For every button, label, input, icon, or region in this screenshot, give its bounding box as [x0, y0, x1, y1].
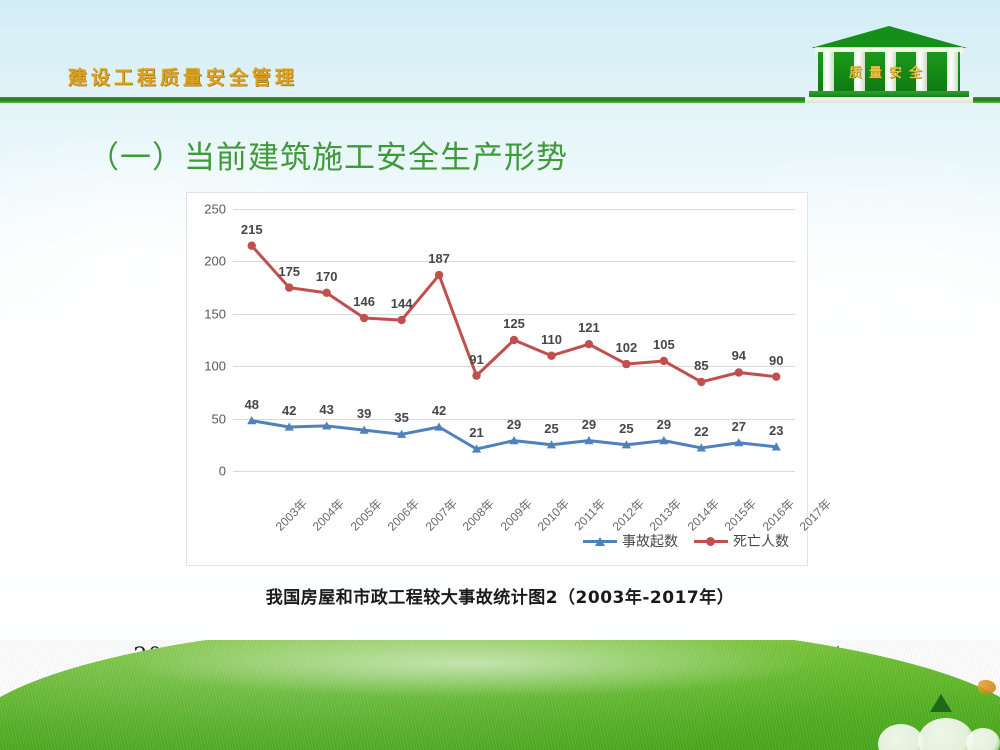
temple-roof	[811, 26, 967, 48]
temple-base	[805, 97, 973, 103]
chart-data-label: 91	[469, 352, 483, 367]
legend-label: 死亡人数	[733, 531, 789, 551]
chart-x-tick-label: 2015年	[721, 495, 760, 534]
chart-data-label: 29	[507, 417, 521, 432]
chart-marker	[772, 372, 780, 380]
chart-data-label: 125	[503, 316, 525, 331]
chart-data-label: 146	[353, 294, 375, 309]
legend-marker-icon	[694, 535, 728, 547]
chart-data-label: 90	[769, 353, 783, 368]
chart-data-label: 27	[732, 419, 746, 434]
chart-x-tick-label: 2011年	[571, 495, 610, 534]
chart-marker	[472, 371, 480, 379]
chart-data-label: 43	[319, 402, 333, 417]
chart-data-label: 39	[357, 406, 371, 421]
chart-data-label: 110	[541, 332, 562, 347]
chart-x-tick-label: 2013年	[646, 495, 685, 534]
chart-data-label: 42	[282, 403, 296, 418]
legend-item-死亡人数[interactable]: 死亡人数	[694, 531, 789, 551]
legend-item-事故起数[interactable]: 事故起数	[583, 531, 678, 551]
chart-marker	[360, 314, 368, 322]
chart-panel: 0501001502002504842433935422129252925292…	[186, 192, 808, 566]
chart-x-tick-label: 2004年	[309, 495, 348, 534]
chart-data-label: 29	[657, 417, 671, 432]
chart-data-label: 22	[694, 424, 708, 439]
chart-marker	[585, 340, 593, 348]
chart-series-layer	[233, 209, 795, 471]
chart-data-label: 144	[391, 296, 413, 311]
chart-x-tick-label: 2009年	[496, 495, 535, 534]
chart-marker	[248, 241, 256, 249]
chart-gridline: 0	[233, 471, 795, 472]
chart-x-tick-label: 2017年	[796, 495, 835, 534]
chart-data-label: 25	[619, 421, 633, 436]
logo-label: 质量安全	[818, 62, 960, 81]
chart-y-tick-label: 200	[204, 254, 226, 269]
chart-y-tick-label: 150	[204, 306, 226, 321]
chart-data-label: 42	[432, 403, 446, 418]
section-heading: （一）当前建筑施工安全生产形势	[88, 132, 568, 177]
grass-footer	[0, 640, 1000, 750]
chart-data-label: 29	[582, 417, 596, 432]
chart-data-label: 48	[244, 397, 258, 412]
chart-y-tick-label: 0	[219, 464, 226, 479]
chart-x-tick-label: 2010年	[533, 495, 572, 534]
chart-data-label: 94	[732, 348, 746, 363]
temple-icon: 质量安全	[805, 26, 973, 104]
chart-marker	[622, 360, 630, 368]
chart-data-label: 21	[469, 425, 483, 440]
chart-y-tick-label: 250	[204, 202, 226, 217]
slide-canvas: 建设工程质量安全管理 质量安全 （一）当前建筑施工安全生产形势 05010015…	[0, 0, 1000, 750]
legend-marker-icon	[583, 535, 617, 547]
chart-plot-area: 0501001502002504842433935422129252925292…	[233, 209, 795, 471]
chart-marker	[697, 378, 705, 386]
chart-data-label: 105	[653, 337, 675, 352]
chart-data-label: 85	[694, 358, 708, 373]
chart-data-label: 102	[616, 340, 638, 355]
chart-x-tick-label: 2016年	[758, 495, 797, 534]
chart-data-label: 187	[428, 251, 450, 266]
chart-x-tick-label: 2014年	[683, 495, 722, 534]
chart-data-label: 215	[241, 222, 263, 237]
decor-sprig-icon	[978, 680, 996, 694]
chart-x-tick-label: 2003年	[271, 495, 310, 534]
chart-y-tick-label: 50	[212, 411, 226, 426]
chart-data-label: 35	[394, 410, 408, 425]
chart-marker	[547, 352, 555, 360]
chart-x-tick-label: 2012年	[608, 495, 647, 534]
chart-marker	[285, 283, 293, 291]
chart-data-label: 121	[578, 320, 600, 335]
chart-x-tick-label: 2008年	[458, 495, 497, 534]
grass-field	[0, 640, 1000, 750]
chart-data-label: 23	[769, 423, 783, 438]
chart-data-label: 175	[278, 264, 300, 279]
chart-marker	[510, 336, 518, 344]
chart-x-tick-label: 2005年	[346, 495, 385, 534]
chart-caption: 我国房屋和市政工程较大事故统计图2（2003年-2017年）	[0, 583, 1000, 608]
page-title: 建设工程质量安全管理	[68, 63, 298, 90]
chart-legend: 事故起数死亡人数	[583, 531, 789, 551]
chart-data-label: 25	[544, 421, 558, 436]
chart-marker	[322, 289, 330, 297]
chart-x-tick-label: 2006年	[383, 495, 422, 534]
triangle-up-icon[interactable]	[930, 694, 952, 712]
chart-x-tick-label: 2007年	[421, 495, 460, 534]
chart-y-tick-label: 100	[204, 359, 226, 374]
chart-data-label: 170	[316, 269, 338, 284]
chart-marker	[660, 357, 668, 365]
chart-marker	[735, 368, 743, 376]
chart-marker	[397, 316, 405, 324]
chart-marker	[435, 271, 443, 279]
legend-label: 事故起数	[622, 531, 678, 551]
cloud-puff	[966, 728, 1000, 750]
